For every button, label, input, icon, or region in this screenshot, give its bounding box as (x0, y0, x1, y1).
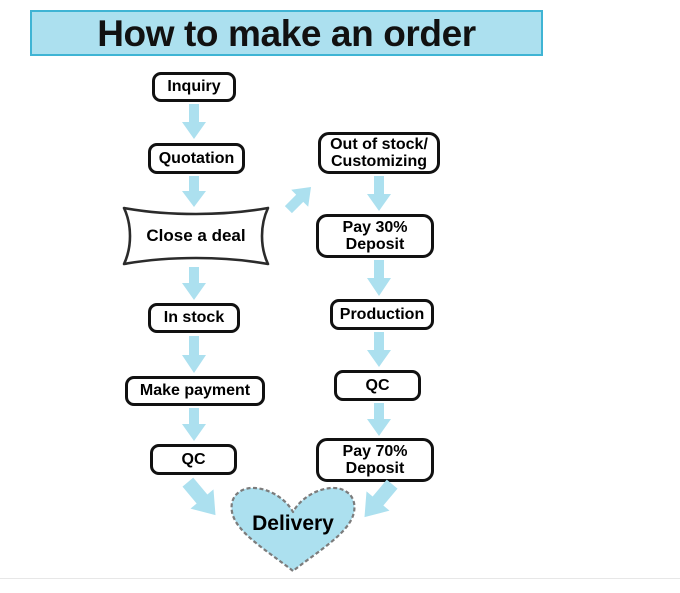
node-in-stock-label: In stock (164, 309, 224, 326)
node-production-label: Production (340, 306, 424, 323)
node-pay-30-deposit-label-line1: Pay 30% (343, 219, 408, 236)
node-quotation[interactable]: Quotation (148, 143, 245, 174)
node-delivery[interactable]: Delivery (228, 485, 358, 573)
node-pay-70-deposit-label-line1: Pay 70% (343, 443, 408, 460)
node-quotation-label: Quotation (159, 150, 235, 167)
arrow-down-icon-pay-30-to-production (366, 260, 392, 297)
arrow-down-icon-quotation-to-close-a-deal (181, 176, 207, 208)
arrow-down-icon-close-a-deal-to-in-stock (181, 267, 207, 301)
footer-divider (0, 578, 680, 579)
node-out-of-stock-label-line2: Customizing (331, 153, 427, 170)
node-close-a-deal[interactable]: Close a deal (118, 205, 274, 267)
node-qc-left[interactable]: QC (150, 444, 237, 475)
node-qc-left-label: QC (182, 451, 206, 468)
node-out-of-stock-label-line1: Out of stock/ (330, 136, 428, 153)
node-pay-30-deposit-label-line2: Deposit (346, 236, 405, 253)
flowchart-canvas: How to make an order Inquiry Quotation C… (0, 0, 680, 593)
node-qc-right[interactable]: QC (334, 370, 421, 401)
arrow-down-icon-out-of-stock-to-pay-30 (366, 176, 392, 212)
node-out-of-stock[interactable]: Out of stock/ Customizing (318, 132, 440, 174)
page-title-box: How to make an order (30, 10, 543, 56)
node-make-payment-label: Make payment (140, 382, 250, 399)
node-inquiry-label: Inquiry (167, 78, 220, 95)
arrow-down-icon-production-to-qc (366, 332, 392, 368)
node-make-payment[interactable]: Make payment (125, 376, 265, 406)
node-inquiry[interactable]: Inquiry (152, 72, 236, 102)
page-title: How to make an order (97, 15, 476, 52)
node-in-stock[interactable]: In stock (148, 303, 240, 333)
node-pay-70-deposit[interactable]: Pay 70% Deposit (316, 438, 434, 482)
node-pay-70-deposit-label-line2: Deposit (346, 460, 405, 477)
arrow-down-icon-in-stock-to-make-payment (181, 336, 207, 374)
arrow-down-icon-qc-to-pay-70 (366, 403, 392, 437)
node-qc-right-label: QC (366, 377, 390, 394)
node-production[interactable]: Production (330, 299, 434, 330)
arrow-down-icon-inquiry-to-quotation (181, 104, 207, 140)
node-close-a-deal-label: Close a deal (118, 205, 274, 267)
node-pay-30-deposit[interactable]: Pay 30% Deposit (316, 214, 434, 258)
arrow-up-right-icon-close-a-deal-to-out-of-stock (281, 180, 317, 218)
node-delivery-label: Delivery (228, 485, 358, 573)
arrow-down-right-icon-qc-to-delivery (176, 475, 228, 523)
arrow-down-left-icon-pay-70-to-delivery (352, 477, 404, 525)
arrow-down-icon-make-payment-to-qc (181, 408, 207, 442)
